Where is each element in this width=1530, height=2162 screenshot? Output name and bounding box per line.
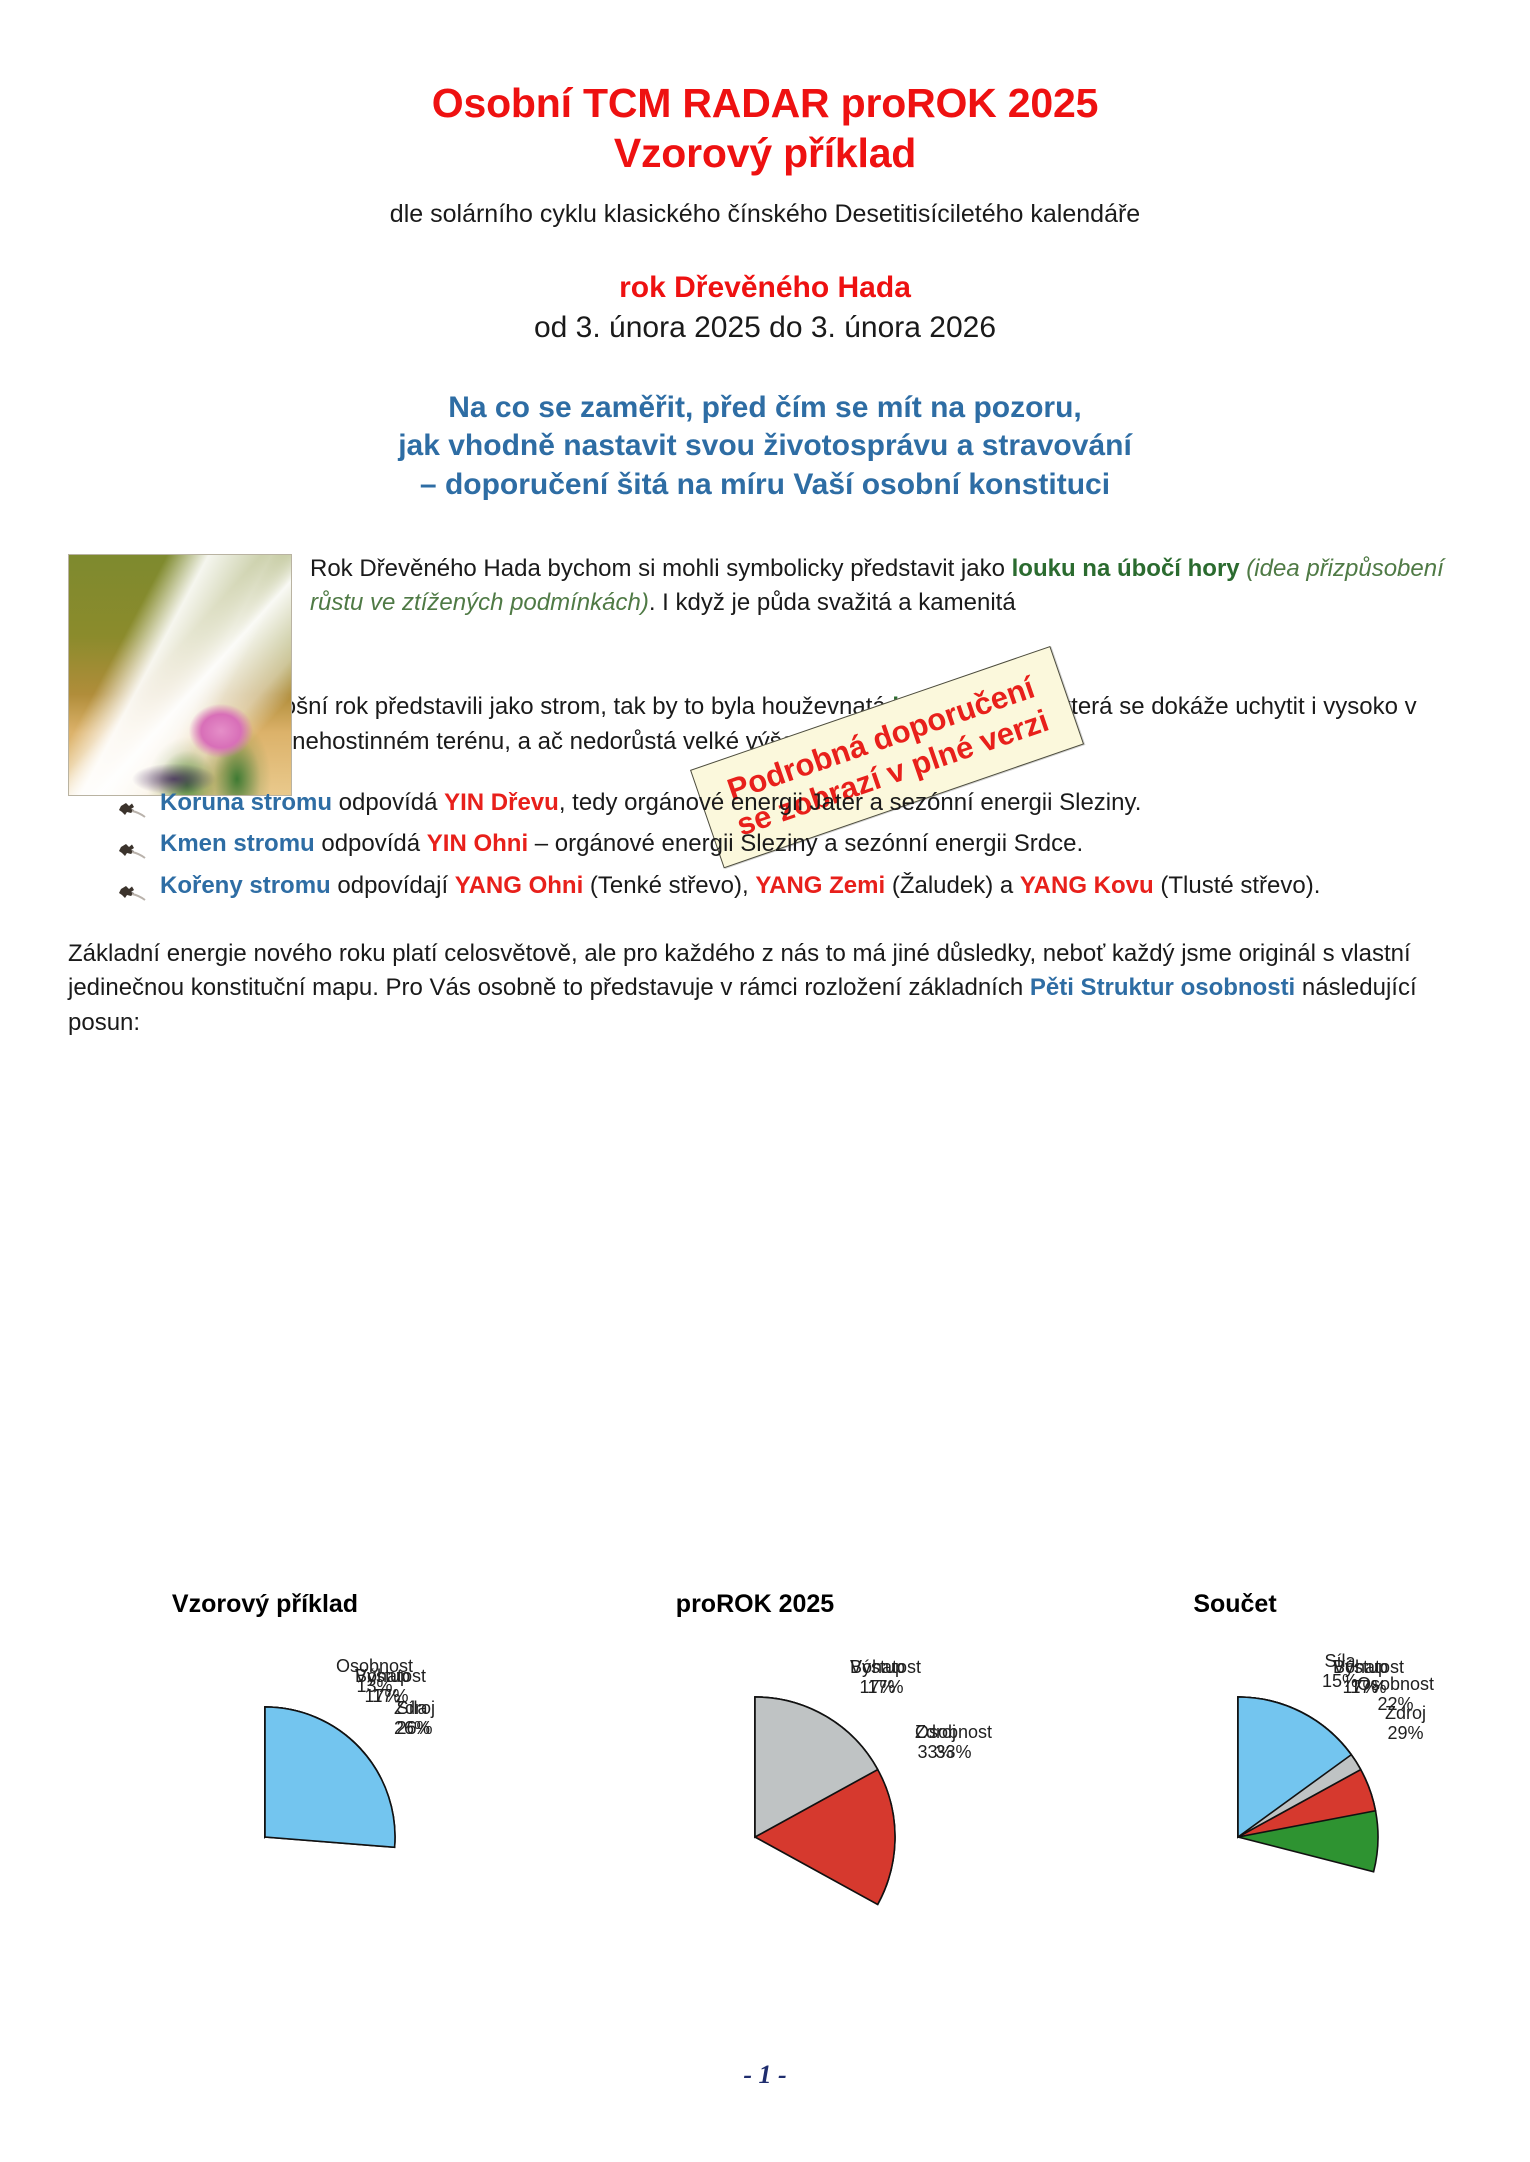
pie-chart-personal: Vzorový příklad Zdroj26%Osobnost13%Výstu… [30,1590,500,2060]
pie-slice [265,1707,395,1847]
tree-parts-list: Koruna stromu odpovídá YIN Dřevu, tedy o… [0,785,1530,902]
list-item-lead: Kořeny stromu [160,872,331,899]
pie-slice-label: Osobnost33% [915,1722,992,1762]
intro-paragraph: Rok Dřevěného Hada bychom si mohli symbo… [310,552,1468,620]
pine-branch-icon [118,794,146,811]
mountain-flower-painting [68,554,292,796]
chart-title: Součet [1000,1590,1470,1619]
page-title-line2: Vzorový příklad [0,128,1530,178]
list-item-accent: YANG Ohni [455,872,583,899]
list-item-accent3: YANG Kovu [1020,872,1154,899]
list-item: Kořeny stromu odpovídají YANG Ohni (Tenk… [118,868,1470,903]
year-label: rok Dřevěného Hada [0,271,1530,305]
page-title-line1: Osobní TCM RADAR proROK 2025 [432,80,1098,126]
list-item-mid: odpovídají [331,872,455,899]
pie-slice-label: Síla26% [394,1698,430,1738]
intro-block: Rok Dřevěného Hada bychom si mohli symbo… [0,552,1530,620]
list-item-tail: – orgánové energii Sleziny a sezónní ene… [528,830,1083,857]
list-item-tail: , tedy orgánové energii Jater a sezónní … [559,789,1142,816]
page-title: Osobní TCM RADAR proROK 2025 Vzorový pří… [0,0,1530,178]
structures-paragraph-bold: Pěti Struktur osobnosti [1030,974,1295,1001]
list-item: Koruna stromu odpovídá YIN Dřevu, tedy o… [118,785,1470,820]
page-footer: - 1 - [0,2060,1530,2090]
list-item-mid3: (Žaludek) a [885,872,1020,899]
intro-text-bold: louku na úbočí hory [1012,555,1240,582]
list-item: Kmen stromu odpovídá YIN Ohni – orgánové… [118,826,1470,861]
pie-chart-sum: Součet Zdroj29%Osobnost22%Výstup17%Bohat… [1000,1590,1470,2060]
pie-chart-year: proROK 2025 Zdroj33%Osobnost33%Výstup17%… [520,1590,990,2060]
pine-branch-icon [118,877,146,894]
focus-heading: Na co se zaměřit, před čím se mít na poz… [0,389,1530,504]
pie-canvas: Zdroj33%Osobnost33%Výstup17%Bohatost17% [520,1619,990,2039]
pine-branch-icon [118,835,146,852]
list-item-mid2: (Tenké střevo), [583,872,755,899]
list-item-lead: Koruna stromu [160,789,332,816]
pie-slice-label: Síla15% [1322,1651,1358,1691]
structures-paragraph: Základní energie nového roku platí celos… [68,937,1470,1041]
focus-heading-line3: – doporučení šitá na míru Vaší osobní ko… [0,466,1530,504]
pie-canvas: Zdroj29%Osobnost22%Výstup17%Bohatost17%S… [1000,1619,1470,2039]
page-subtitle: dle solárního cyklu klasického čínského … [0,200,1530,229]
chart-title: proROK 2025 [520,1590,990,1619]
intro-text-a: Rok Dřevěného Hada bychom si mohli symbo… [310,555,1012,582]
page-number: - 1 - [743,2060,786,2089]
list-item-lead: Kmen stromu [160,830,315,857]
list-item-accent: YIN Ohni [427,830,528,857]
list-item-accent: YIN Dřevu [444,789,559,816]
list-item-tail: (Tlusté střevo). [1154,872,1321,899]
intro-text-d: . I když je půda svažitá a kamenitá [649,589,1016,616]
list-item-mid: odpovídá [315,830,427,857]
pie-chart-row: Vzorový příklad Zdroj26%Osobnost13%Výstu… [0,1590,1530,2060]
focus-heading-line1: Na co se zaměřit, před čím se mít na poz… [0,389,1530,427]
pie-canvas: Zdroj26%Osobnost13%Výstup17%Bohatost17%S… [30,1619,500,2039]
date-range: od 3. února 2025 do 3. února 2026 [0,311,1530,345]
list-item-accent2: YANG Zemi [755,872,885,899]
list-item-mid: odpovídá [332,789,444,816]
pie-slice-label: Bohatost17% [850,1657,921,1697]
document-page: Osobní TCM RADAR proROK 2025 Vzorový pří… [0,0,1530,2162]
focus-heading-line2: jak vhodně nastavit svou životosprávu a … [0,427,1530,465]
chart-title: Vzorový příklad [30,1590,500,1619]
